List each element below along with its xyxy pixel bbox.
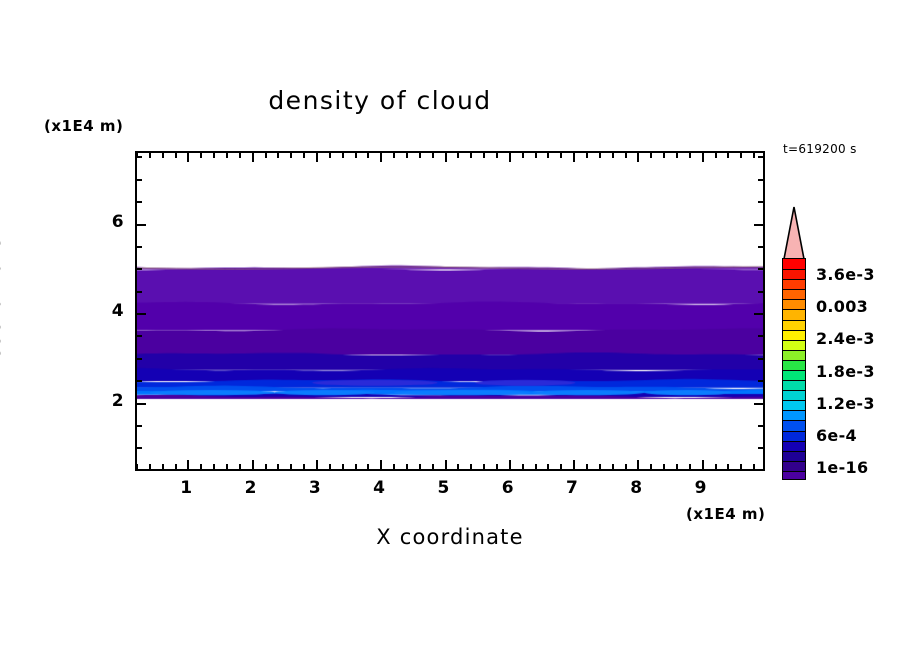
colorbar-band-separator — [783, 350, 805, 351]
contour-field — [137, 153, 763, 469]
x-axis-unit-annotation: (x1E4 m) — [686, 505, 765, 523]
y-axis-minor-tick-right — [758, 179, 763, 181]
x-axis-major-tick — [637, 460, 639, 469]
y-axis-minor-tick-right — [758, 470, 763, 471]
x-axis-minor-tick-top — [213, 153, 215, 158]
y-axis-minor-tick — [137, 335, 142, 337]
x-axis-minor-tick — [535, 464, 537, 469]
x-axis-minor-tick — [265, 464, 267, 469]
colorbar-band-separator — [783, 269, 805, 270]
y-axis-minor-tick-right — [758, 291, 763, 293]
colorbar-band — [783, 269, 805, 280]
x-axis-minor-tick — [560, 464, 562, 469]
x-axis-minor-tick — [367, 464, 369, 469]
colorbar-band — [783, 390, 805, 401]
colorbar-band-separator — [783, 320, 805, 321]
colorbar-band — [783, 320, 805, 331]
x-axis-minor-tick — [200, 464, 202, 469]
x-axis-minor-tick — [457, 464, 459, 469]
colorbar: 3.6e-30.0032.4e-31.8e-31.2e-36e-41e-16 — [782, 205, 902, 485]
x-axis-minor-tick-top — [715, 153, 717, 158]
x-axis-minor-tick-top — [200, 153, 202, 158]
x-axis-major-tick — [445, 460, 447, 469]
x-axis-major-tick — [187, 460, 189, 469]
colorbar-tick-label: 1.8e-3 — [816, 362, 875, 381]
y-axis-tick-label: 2 — [84, 391, 124, 411]
x-axis-minor-tick-top — [599, 153, 601, 158]
x-axis-major-tick-top — [316, 153, 318, 162]
time-annotation: t=619200 s — [783, 142, 857, 156]
colorbar-overflow-arrow-icon — [782, 205, 806, 261]
y-axis-minor-tick-right — [758, 268, 763, 270]
x-axis-minor-tick — [277, 464, 279, 469]
x-axis-minor-tick-top — [290, 153, 292, 158]
y-axis-major-tick — [137, 403, 146, 405]
x-axis-major-tick — [573, 460, 575, 469]
colorbar-band-separator — [783, 461, 805, 462]
x-axis-minor-tick-top — [419, 153, 421, 158]
y-axis-minor-tick — [137, 358, 142, 360]
colorbar-band — [783, 299, 805, 310]
x-axis-major-tick-top — [637, 153, 639, 162]
x-axis-minor-tick — [419, 464, 421, 469]
y-axis-unit-annotation: (x1E4 m) — [44, 117, 123, 135]
colorbar-tick-label: 2.4e-3 — [816, 329, 875, 348]
x-axis-minor-tick — [676, 464, 678, 469]
x-axis-minor-tick-top — [239, 153, 241, 158]
y-axis-minor-tick — [137, 201, 142, 203]
x-axis-minor-tick-top — [522, 153, 524, 158]
x-axis-minor-tick-top — [277, 153, 279, 158]
colorbar-band — [783, 431, 805, 442]
x-axis-minor-tick-top — [650, 153, 652, 158]
x-axis-minor-tick-top — [175, 153, 177, 158]
colorbar-band — [783, 370, 805, 381]
x-axis-minor-tick — [239, 464, 241, 469]
x-axis-minor-tick-top — [432, 153, 434, 158]
x-axis-minor-tick — [342, 464, 344, 469]
x-axis-minor-tick-top — [586, 153, 588, 158]
x-axis-minor-tick-top — [457, 153, 459, 158]
x-axis-minor-tick — [290, 464, 292, 469]
x-axis-minor-tick-top — [149, 153, 151, 158]
x-axis-minor-tick — [663, 464, 665, 469]
x-axis-major-tick-top — [445, 153, 447, 162]
x-axis-minor-tick-top — [547, 153, 549, 158]
x-axis-minor-tick — [226, 464, 228, 469]
x-axis-minor-tick — [522, 464, 524, 469]
colorbar-band — [783, 289, 805, 300]
colorbar-band-separator — [783, 441, 805, 442]
x-axis-minor-tick-top — [496, 153, 498, 158]
colorbar-band — [783, 279, 805, 290]
y-axis-minor-tick-right — [758, 358, 763, 360]
colorbar-band-separator — [783, 309, 805, 310]
y-axis-minor-tick-right — [758, 201, 763, 203]
x-axis-minor-tick-top — [483, 153, 485, 158]
y-axis-major-tick-right — [754, 313, 763, 315]
x-axis-minor-tick-top — [303, 153, 305, 158]
x-axis-minor-tick — [599, 464, 601, 469]
colorbar-tick-label: 3.6e-3 — [816, 265, 875, 284]
plot-area — [135, 151, 765, 471]
y-axis-minor-tick-right — [758, 156, 763, 158]
y-axis-minor-tick-right — [758, 335, 763, 337]
x-axis-minor-tick-top — [663, 153, 665, 158]
colorbar-band — [783, 330, 805, 341]
y-axis-minor-tick — [137, 470, 142, 471]
x-axis-minor-tick-top — [406, 153, 408, 158]
y-axis-minor-tick — [137, 268, 142, 270]
y-axis-major-tick-right — [754, 224, 763, 226]
colorbar-band-separator — [783, 451, 805, 452]
x-axis-minor-tick — [650, 464, 652, 469]
y-axis-minor-tick — [137, 447, 142, 449]
x-axis-major-tick — [316, 460, 318, 469]
x-axis-label: X coordinate — [135, 525, 765, 549]
x-axis-minor-tick — [625, 464, 627, 469]
x-axis-tick-label: 2 — [231, 478, 271, 498]
x-axis-minor-tick-top — [727, 153, 729, 158]
x-axis-minor-tick — [355, 464, 357, 469]
colorbar-tick-label: 0.003 — [816, 297, 868, 316]
colorbar-gradient — [782, 258, 806, 480]
colorbar-band — [783, 380, 805, 391]
colorbar-band-separator — [783, 289, 805, 290]
y-axis-minor-tick — [137, 380, 142, 382]
figure-canvas: density of cloud (x1E4 m) (x1E4 m) t=619… — [0, 0, 904, 654]
x-axis-minor-tick — [727, 464, 729, 469]
x-axis-minor-tick-top — [162, 153, 164, 158]
y-axis-minor-tick-right — [758, 447, 763, 449]
x-axis-minor-tick-top — [676, 153, 678, 158]
x-axis-minor-tick — [329, 464, 331, 469]
x-axis-minor-tick-top — [612, 153, 614, 158]
colorbar-band-separator — [783, 340, 805, 341]
colorbar-band-separator — [783, 390, 805, 391]
colorbar-band-separator — [783, 380, 805, 381]
x-axis-minor-tick-top — [470, 153, 472, 158]
x-axis-tick-label: 6 — [488, 478, 528, 498]
x-axis-tick-label: 4 — [359, 478, 399, 498]
x-axis-minor-tick-top — [535, 153, 537, 158]
colorbar-tick-label: 6e-4 — [816, 426, 857, 445]
x-axis-major-tick-top — [187, 153, 189, 162]
colorbar-band-separator — [783, 370, 805, 371]
y-axis-minor-tick — [137, 291, 142, 293]
x-axis-minor-tick — [689, 464, 691, 469]
x-axis-major-tick-top — [380, 153, 382, 162]
x-axis-minor-tick-top — [393, 153, 395, 158]
y-axis-minor-tick — [137, 179, 142, 181]
x-axis-minor-tick — [753, 464, 755, 469]
colorbar-band-separator — [783, 471, 805, 472]
colorbar-band — [783, 471, 805, 480]
y-axis-minor-tick-right — [758, 246, 763, 248]
x-axis-minor-tick-top — [740, 153, 742, 158]
x-axis-tick-label: 8 — [616, 478, 656, 498]
x-axis-minor-tick-top — [226, 153, 228, 158]
x-axis-minor-tick-top — [625, 153, 627, 158]
colorbar-band-separator — [783, 420, 805, 421]
x-axis-minor-tick — [136, 464, 138, 469]
y-axis-major-tick-right — [754, 403, 763, 405]
x-axis-minor-tick-top — [367, 153, 369, 158]
x-axis-major-tick-top — [573, 153, 575, 162]
x-axis-minor-tick — [213, 464, 215, 469]
x-axis-minor-tick — [496, 464, 498, 469]
y-axis-major-tick — [137, 224, 146, 226]
colorbar-band-separator — [783, 431, 805, 432]
x-axis-major-tick-top — [509, 153, 511, 162]
x-axis-tick-label: 9 — [681, 478, 721, 498]
x-axis-minor-tick — [586, 464, 588, 469]
y-axis-minor-tick — [137, 246, 142, 248]
colorbar-band — [783, 309, 805, 320]
x-axis-major-tick — [252, 460, 254, 469]
y-axis-major-tick — [137, 313, 146, 315]
x-axis-minor-tick — [432, 464, 434, 469]
x-axis-minor-tick — [612, 464, 614, 469]
x-axis-minor-tick — [406, 464, 408, 469]
colorbar-band — [783, 340, 805, 351]
x-axis-major-tick — [702, 460, 704, 469]
x-axis-major-tick — [509, 460, 511, 469]
x-axis-minor-tick — [175, 464, 177, 469]
x-axis-minor-tick — [715, 464, 717, 469]
colorbar-band-separator — [783, 279, 805, 280]
colorbar-band — [783, 441, 805, 452]
x-axis-minor-tick — [149, 464, 151, 469]
y-axis-label: Z coordinate — [0, 200, 5, 420]
x-axis-minor-tick-top — [265, 153, 267, 158]
y-axis-minor-tick — [137, 425, 142, 427]
colorbar-tick-label: 1e-16 — [816, 458, 868, 477]
x-axis-minor-tick-top — [753, 153, 755, 158]
y-axis-minor-tick-right — [758, 380, 763, 382]
x-axis-tick-label: 3 — [295, 478, 335, 498]
x-axis-major-tick — [380, 460, 382, 469]
x-axis-minor-tick — [547, 464, 549, 469]
y-axis-tick-label: 6 — [84, 212, 124, 232]
y-axis-minor-tick-right — [758, 425, 763, 427]
colorbar-band — [783, 451, 805, 462]
x-axis-tick-label: 5 — [424, 478, 464, 498]
colorbar-band-separator — [783, 299, 805, 300]
colorbar-band — [783, 461, 805, 472]
colorbar-band — [783, 400, 805, 411]
x-axis-major-tick-top — [702, 153, 704, 162]
page-title: density of cloud — [0, 86, 760, 115]
x-axis-minor-tick — [393, 464, 395, 469]
colorbar-band — [783, 410, 805, 421]
x-axis-minor-tick-top — [689, 153, 691, 158]
y-axis-tick-label: 4 — [84, 301, 124, 321]
colorbar-band — [783, 360, 805, 371]
x-axis-minor-tick-top — [329, 153, 331, 158]
colorbar-band-separator — [783, 360, 805, 361]
x-axis-major-tick-top — [252, 153, 254, 162]
colorbar-band-separator — [783, 400, 805, 401]
colorbar-band — [783, 420, 805, 431]
x-axis-minor-tick — [483, 464, 485, 469]
colorbar-band — [783, 259, 805, 270]
x-axis-minor-tick — [303, 464, 305, 469]
x-axis-minor-tick — [470, 464, 472, 469]
colorbar-band-separator — [783, 330, 805, 331]
x-axis-minor-tick-top — [560, 153, 562, 158]
x-axis-minor-tick — [162, 464, 164, 469]
x-axis-tick-label: 1 — [166, 478, 206, 498]
colorbar-band — [783, 350, 805, 361]
x-axis-minor-tick-top — [355, 153, 357, 158]
colorbar-tick-label: 1.2e-3 — [816, 394, 875, 413]
colorbar-band-separator — [783, 410, 805, 411]
y-axis-minor-tick — [137, 156, 142, 158]
x-axis-tick-label: 7 — [552, 478, 592, 498]
x-axis-minor-tick — [740, 464, 742, 469]
x-axis-minor-tick-top — [342, 153, 344, 158]
